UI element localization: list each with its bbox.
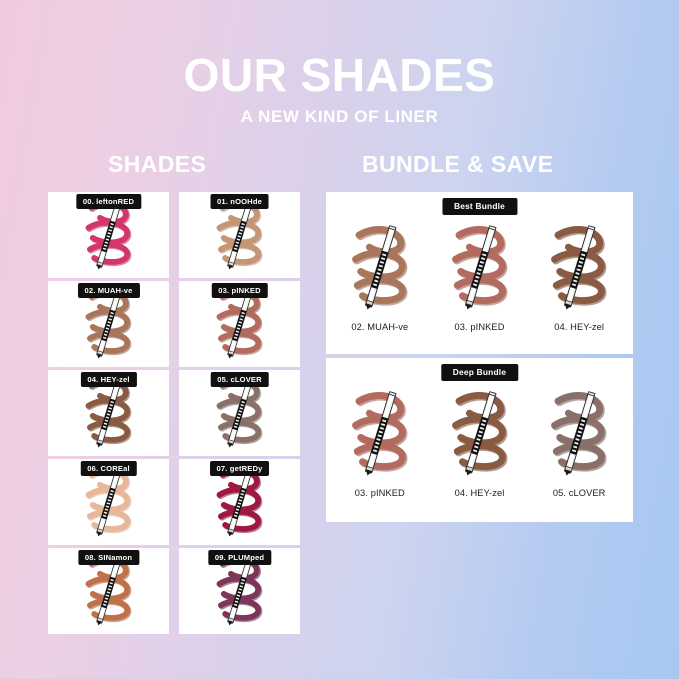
shade-name-badge: 03. pINKED	[211, 283, 267, 298]
product-shade-chart: OUR SHADES A NEW KIND OF LINER SHADES BU…	[0, 0, 679, 679]
bundle-item-row: 03. pINKED04. HEY-zel05. cLOVER	[334, 382, 625, 516]
bundle-swatch-image	[334, 382, 426, 486]
bundle-panel-deep[interactable]: Deep Bundle03. pINKED04. HEY-zel05. cLOV…	[326, 358, 633, 522]
shade-name-badge: 02. MUAH-ve	[77, 283, 139, 298]
shade-card[interactable]: 00. leftonRED	[48, 192, 169, 278]
bundle-panel-best[interactable]: Best Bundle02. MUAH-ve03. pINKED04. HEY-…	[326, 192, 633, 354]
bundle-item[interactable]: 03. pINKED	[434, 216, 526, 332]
bundle-swatch-image	[434, 216, 526, 320]
bundle-swatch-image	[533, 382, 625, 486]
bundle-swatch-image	[334, 216, 426, 320]
bundle-item-caption: 05. cLOVER	[553, 488, 606, 498]
shade-card[interactable]: 02. MUAH-ve	[48, 281, 169, 367]
shade-name-badge: 00. leftonRED	[76, 194, 141, 209]
page-title: OUR SHADES	[0, 52, 679, 98]
bundle-item[interactable]: 04. HEY-zel	[434, 382, 526, 498]
shade-name-badge: 07. getREDy	[210, 461, 270, 476]
section-heading-bundle: BUNDLE & SAVE	[362, 151, 553, 178]
shade-card[interactable]: 09. PLUMped	[179, 548, 300, 634]
shade-grid: 00. leftonRED01. nOOHde02. MUAH-ve03. pI…	[48, 192, 300, 634]
bundle-item-caption: 04. HEY-zel	[455, 488, 505, 498]
bundle-item[interactable]: 05. cLOVER	[533, 382, 625, 498]
bundle-item-caption: 03. pINKED	[454, 322, 504, 332]
bundle-name-badge: Best Bundle	[442, 198, 517, 215]
bundle-name-badge: Deep Bundle	[441, 364, 518, 381]
shade-name-badge: 04. HEY-zel	[80, 372, 136, 387]
shade-name-badge: 06. COREal	[80, 461, 136, 476]
bundle-item[interactable]: 04. HEY-zel	[533, 216, 625, 332]
shade-card[interactable]: 05. cLOVER	[179, 370, 300, 456]
shade-card[interactable]: 03. pINKED	[179, 281, 300, 367]
bundle-item[interactable]: 03. pINKED	[334, 382, 426, 498]
bundle-item-row: 02. MUAH-ve03. pINKED04. HEY-zel	[334, 216, 625, 348]
bundle-swatch-image	[533, 216, 625, 320]
bundle-item-caption: 03. pINKED	[355, 488, 405, 498]
shade-card[interactable]: 07. getREDy	[179, 459, 300, 545]
bundle-item-caption: 04. HEY-zel	[554, 322, 604, 332]
bundle-item-caption: 02. MUAH-ve	[351, 322, 408, 332]
shade-card[interactable]: 08. SINamon	[48, 548, 169, 634]
shade-name-badge: 05. cLOVER	[210, 372, 269, 387]
page-subtitle: A NEW KIND OF LINER	[0, 107, 679, 127]
shade-name-badge: 08. SINamon	[78, 550, 139, 565]
hero-header: OUR SHADES A NEW KIND OF LINER	[0, 52, 679, 127]
bundle-swatch-image	[434, 382, 526, 486]
shade-card[interactable]: 06. COREal	[48, 459, 169, 545]
shade-name-badge: 01. nOOHde	[210, 194, 269, 209]
shade-card[interactable]: 04. HEY-zel	[48, 370, 169, 456]
shade-card[interactable]: 01. nOOHde	[179, 192, 300, 278]
section-heading-shades: SHADES	[108, 151, 206, 178]
bundle-item[interactable]: 02. MUAH-ve	[334, 216, 426, 332]
shade-name-badge: 09. PLUMped	[208, 550, 271, 565]
